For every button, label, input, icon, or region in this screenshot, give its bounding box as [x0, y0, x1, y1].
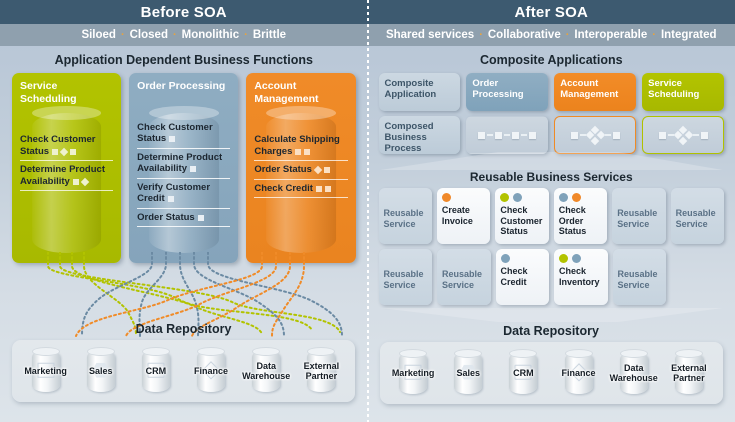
row-label-composite-application: Composite Application: [379, 73, 461, 111]
service-usage-dots: [501, 254, 545, 263]
service-card-check-order-status[interactable]: Check Order Status: [554, 188, 607, 244]
row-label-composed-business-process: Composed Business Process: [379, 116, 461, 154]
service-card-check-inventory[interactable]: Check Inventory: [554, 249, 608, 305]
service-label: Reusable Service: [618, 269, 662, 290]
dot-green-icon: [500, 193, 509, 202]
database-external-partner[interactable]: External Partner: [665, 350, 713, 396]
database-label: External Partner: [297, 361, 345, 381]
service-label: Reusable Service: [676, 208, 719, 229]
database-label: Data Warehouse: [610, 363, 658, 383]
database-label: Finance: [562, 368, 596, 378]
separator-dot-icon: ·: [652, 29, 656, 41]
service-label: Check Credit: [501, 266, 528, 287]
reusable-services-grid: Reusable Service Create Invoice Check Cu…: [368, 188, 735, 305]
attribute-closed: Closed: [130, 29, 168, 41]
silo-service-scheduling[interactable]: Service Scheduling Check Customer Status…: [12, 73, 121, 263]
service-label: Create Invoice: [442, 205, 473, 226]
service-card-reusable[interactable]: Reusable Service: [379, 249, 433, 305]
database-label: CRM: [513, 368, 534, 378]
service-card-reusable[interactable]: Reusable Service: [612, 188, 665, 244]
service-label: Check Order Status: [559, 205, 587, 236]
composite-app-title: Service Scheduling: [642, 73, 724, 111]
after-soa-attributes: Shared services · Collaborative · Intero…: [368, 24, 735, 46]
before-soa-attributes: Siloed · Closed · Monolithic · Brittle: [0, 24, 368, 46]
database-data-warehouse[interactable]: Data Warehouse: [610, 350, 658, 396]
data-repository-title-left: Data Repository: [0, 322, 367, 336]
before-soa-title: Before SOA: [0, 0, 368, 24]
app-dependent-functions-title: Application Dependent Business Functions: [0, 53, 368, 67]
function-glyphs: [166, 133, 175, 144]
function-glyphs: [313, 183, 331, 194]
service-label: Reusable Service: [384, 269, 428, 290]
data-repository-right: Marketing Sales CRM Finance: [380, 342, 723, 404]
database-label: Sales: [89, 366, 113, 376]
silo-title: Service Scheduling: [20, 80, 113, 105]
after-soa-title: After SOA: [368, 0, 735, 24]
function-label: Order Status: [137, 212, 195, 223]
grid-spacer: [671, 249, 724, 305]
process-flow-branching: [642, 116, 724, 154]
silo-title: Order Processing: [137, 80, 230, 93]
database-marketing[interactable]: Marketing: [389, 350, 437, 396]
database-label: CRM: [146, 366, 167, 376]
function-glyphs: [187, 163, 196, 174]
dot-orange-icon: [572, 193, 581, 202]
function-row[interactable]: Determine Product Availability: [20, 161, 113, 191]
dot-blue-icon: [513, 193, 522, 202]
service-card-create-invoice[interactable]: Create Invoice: [437, 188, 490, 244]
silo-group: Service Scheduling Check Customer Status…: [0, 73, 368, 263]
function-glyphs: [165, 193, 174, 204]
silo-title: Account Management: [254, 80, 347, 105]
flow-diagram-icon: [478, 132, 536, 139]
composite-app-account-management[interactable]: Account Management: [554, 73, 636, 154]
function-row[interactable]: Check Customer Status: [137, 119, 230, 149]
silo-function-list: Check Customer Status Determine Product …: [137, 119, 230, 228]
function-row[interactable]: Calculate Shipping Charges: [254, 131, 347, 161]
separator-dot-icon: ·: [479, 29, 483, 41]
service-card-reusable[interactable]: Reusable Service: [671, 188, 724, 244]
after-soa-panel: After SOA Shared services · Collaborativ…: [368, 0, 735, 422]
function-row[interactable]: Order Status: [137, 209, 230, 228]
function-row[interactable]: Verify Customer Credit: [137, 179, 230, 209]
service-usage-dots: [559, 193, 602, 202]
database-label: Data Warehouse: [242, 361, 290, 381]
composite-applications-grid: Composite Application Composed Business …: [368, 73, 735, 154]
service-label: Reusable Service: [442, 269, 486, 290]
composite-applications-title: Composite Applications: [368, 53, 735, 67]
panel-divider: [367, 0, 369, 422]
services-row-1: Reusable Service Create Invoice Check Cu…: [379, 188, 725, 244]
function-label: Order Status: [254, 164, 312, 175]
database-external-partner[interactable]: External Partner: [297, 348, 345, 394]
funnel-connector-top: [368, 154, 735, 170]
service-usage-dots: [500, 193, 543, 202]
data-repository-title-right: Data Repository: [368, 324, 735, 338]
database-data-warehouse[interactable]: Data Warehouse: [242, 348, 290, 394]
function-row[interactable]: Check Credit: [254, 180, 347, 199]
attribute-siloed: Siloed: [81, 29, 116, 41]
funnel-connector-bottom: [368, 310, 735, 322]
service-label: Reusable Service: [384, 208, 427, 229]
silo-function-list: Check Customer Status Determine Product …: [20, 131, 113, 191]
function-label: Check Credit: [254, 183, 313, 194]
composite-row-labels: Composite Application Composed Business …: [379, 73, 461, 154]
reusable-business-services-title: Reusable Business Services: [368, 170, 735, 184]
flow-diagram-icon: [659, 128, 708, 143]
service-usage-dots: [442, 193, 485, 202]
database-finance[interactable]: Finance: [555, 350, 603, 396]
attribute-brittle: Brittle: [253, 29, 286, 41]
attribute-interoperable: Interoperable: [574, 29, 647, 41]
data-repository-left: Marketing Sales CRM Finance: [12, 340, 355, 402]
database-label: Finance: [194, 366, 228, 376]
attribute-collaborative: Collaborative: [488, 29, 561, 41]
database-sales[interactable]: Sales: [444, 350, 492, 396]
function-label: Determine Product Availability: [137, 152, 222, 175]
function-label: Determine Product Availability: [20, 164, 105, 187]
process-flow-branching: [554, 116, 636, 154]
service-label: Reusable Service: [617, 208, 660, 229]
function-glyphs: [312, 164, 330, 175]
service-card-check-credit[interactable]: Check Credit: [496, 249, 550, 305]
database-sales[interactable]: Sales: [77, 348, 125, 394]
service-card-reusable[interactable]: Reusable Service: [613, 249, 667, 305]
database-finance[interactable]: Finance: [187, 348, 235, 394]
attribute-shared-services: Shared services: [386, 29, 474, 41]
service-card-reusable[interactable]: Reusable Service: [437, 249, 491, 305]
service-card-reusable[interactable]: Reusable Service: [379, 188, 432, 244]
soa-comparison-diagram: Before SOA Siloed · Closed · Monolithic …: [0, 0, 735, 422]
dot-blue-icon: [559, 193, 568, 202]
silo-account-management[interactable]: Account Management Calculate Shipping Ch…: [246, 73, 355, 263]
dot-orange-icon: [442, 193, 451, 202]
attribute-monolithic: Monolithic: [182, 29, 240, 41]
composite-app-order-processing[interactable]: Order Processing: [466, 73, 548, 154]
function-row[interactable]: Check Customer Status: [20, 131, 113, 161]
composite-app-title: Order Processing: [466, 73, 548, 111]
separator-dot-icon: ·: [566, 29, 570, 41]
database-marketing[interactable]: Marketing: [22, 348, 70, 394]
process-flow-linear: [466, 116, 548, 154]
database-label: Sales: [456, 368, 480, 378]
service-usage-dots: [559, 254, 603, 263]
database-label: Marketing: [24, 366, 67, 376]
dot-green-icon: [559, 254, 568, 263]
services-row-2: Reusable Service Reusable Service Check …: [379, 249, 725, 305]
function-row[interactable]: Determine Product Availability: [137, 149, 230, 179]
service-label: Check Inventory: [559, 266, 600, 287]
before-soa-panel: Before SOA Siloed · Closed · Monolithic …: [0, 0, 368, 422]
database-crm[interactable]: CRM: [132, 348, 180, 394]
service-label: Check Customer Status: [500, 205, 542, 236]
function-glyphs: [49, 146, 76, 157]
separator-dot-icon: ·: [173, 29, 177, 41]
function-row[interactable]: Order Status: [254, 161, 347, 180]
function-glyphs: [70, 176, 88, 187]
silo-function-list: Calculate Shipping Charges Order Status …: [254, 131, 347, 198]
composite-app-service-scheduling[interactable]: Service Scheduling: [642, 73, 724, 154]
database-label: External Partner: [665, 363, 713, 383]
composite-app-title: Account Management: [554, 73, 636, 111]
service-card-check-customer-status[interactable]: Check Customer Status: [495, 188, 548, 244]
database-label: Marketing: [392, 368, 435, 378]
dot-blue-icon: [572, 254, 581, 263]
function-glyphs: [195, 212, 204, 223]
dot-blue-icon: [501, 254, 510, 263]
separator-dot-icon: ·: [244, 29, 248, 41]
function-glyphs: [292, 146, 310, 157]
silo-order-processing[interactable]: Order Processing Check Customer Status D…: [129, 73, 238, 263]
attribute-integrated: Integrated: [661, 29, 717, 41]
flow-diagram-icon: [571, 128, 620, 143]
separator-dot-icon: ·: [121, 29, 125, 41]
database-crm[interactable]: CRM: [499, 350, 547, 396]
